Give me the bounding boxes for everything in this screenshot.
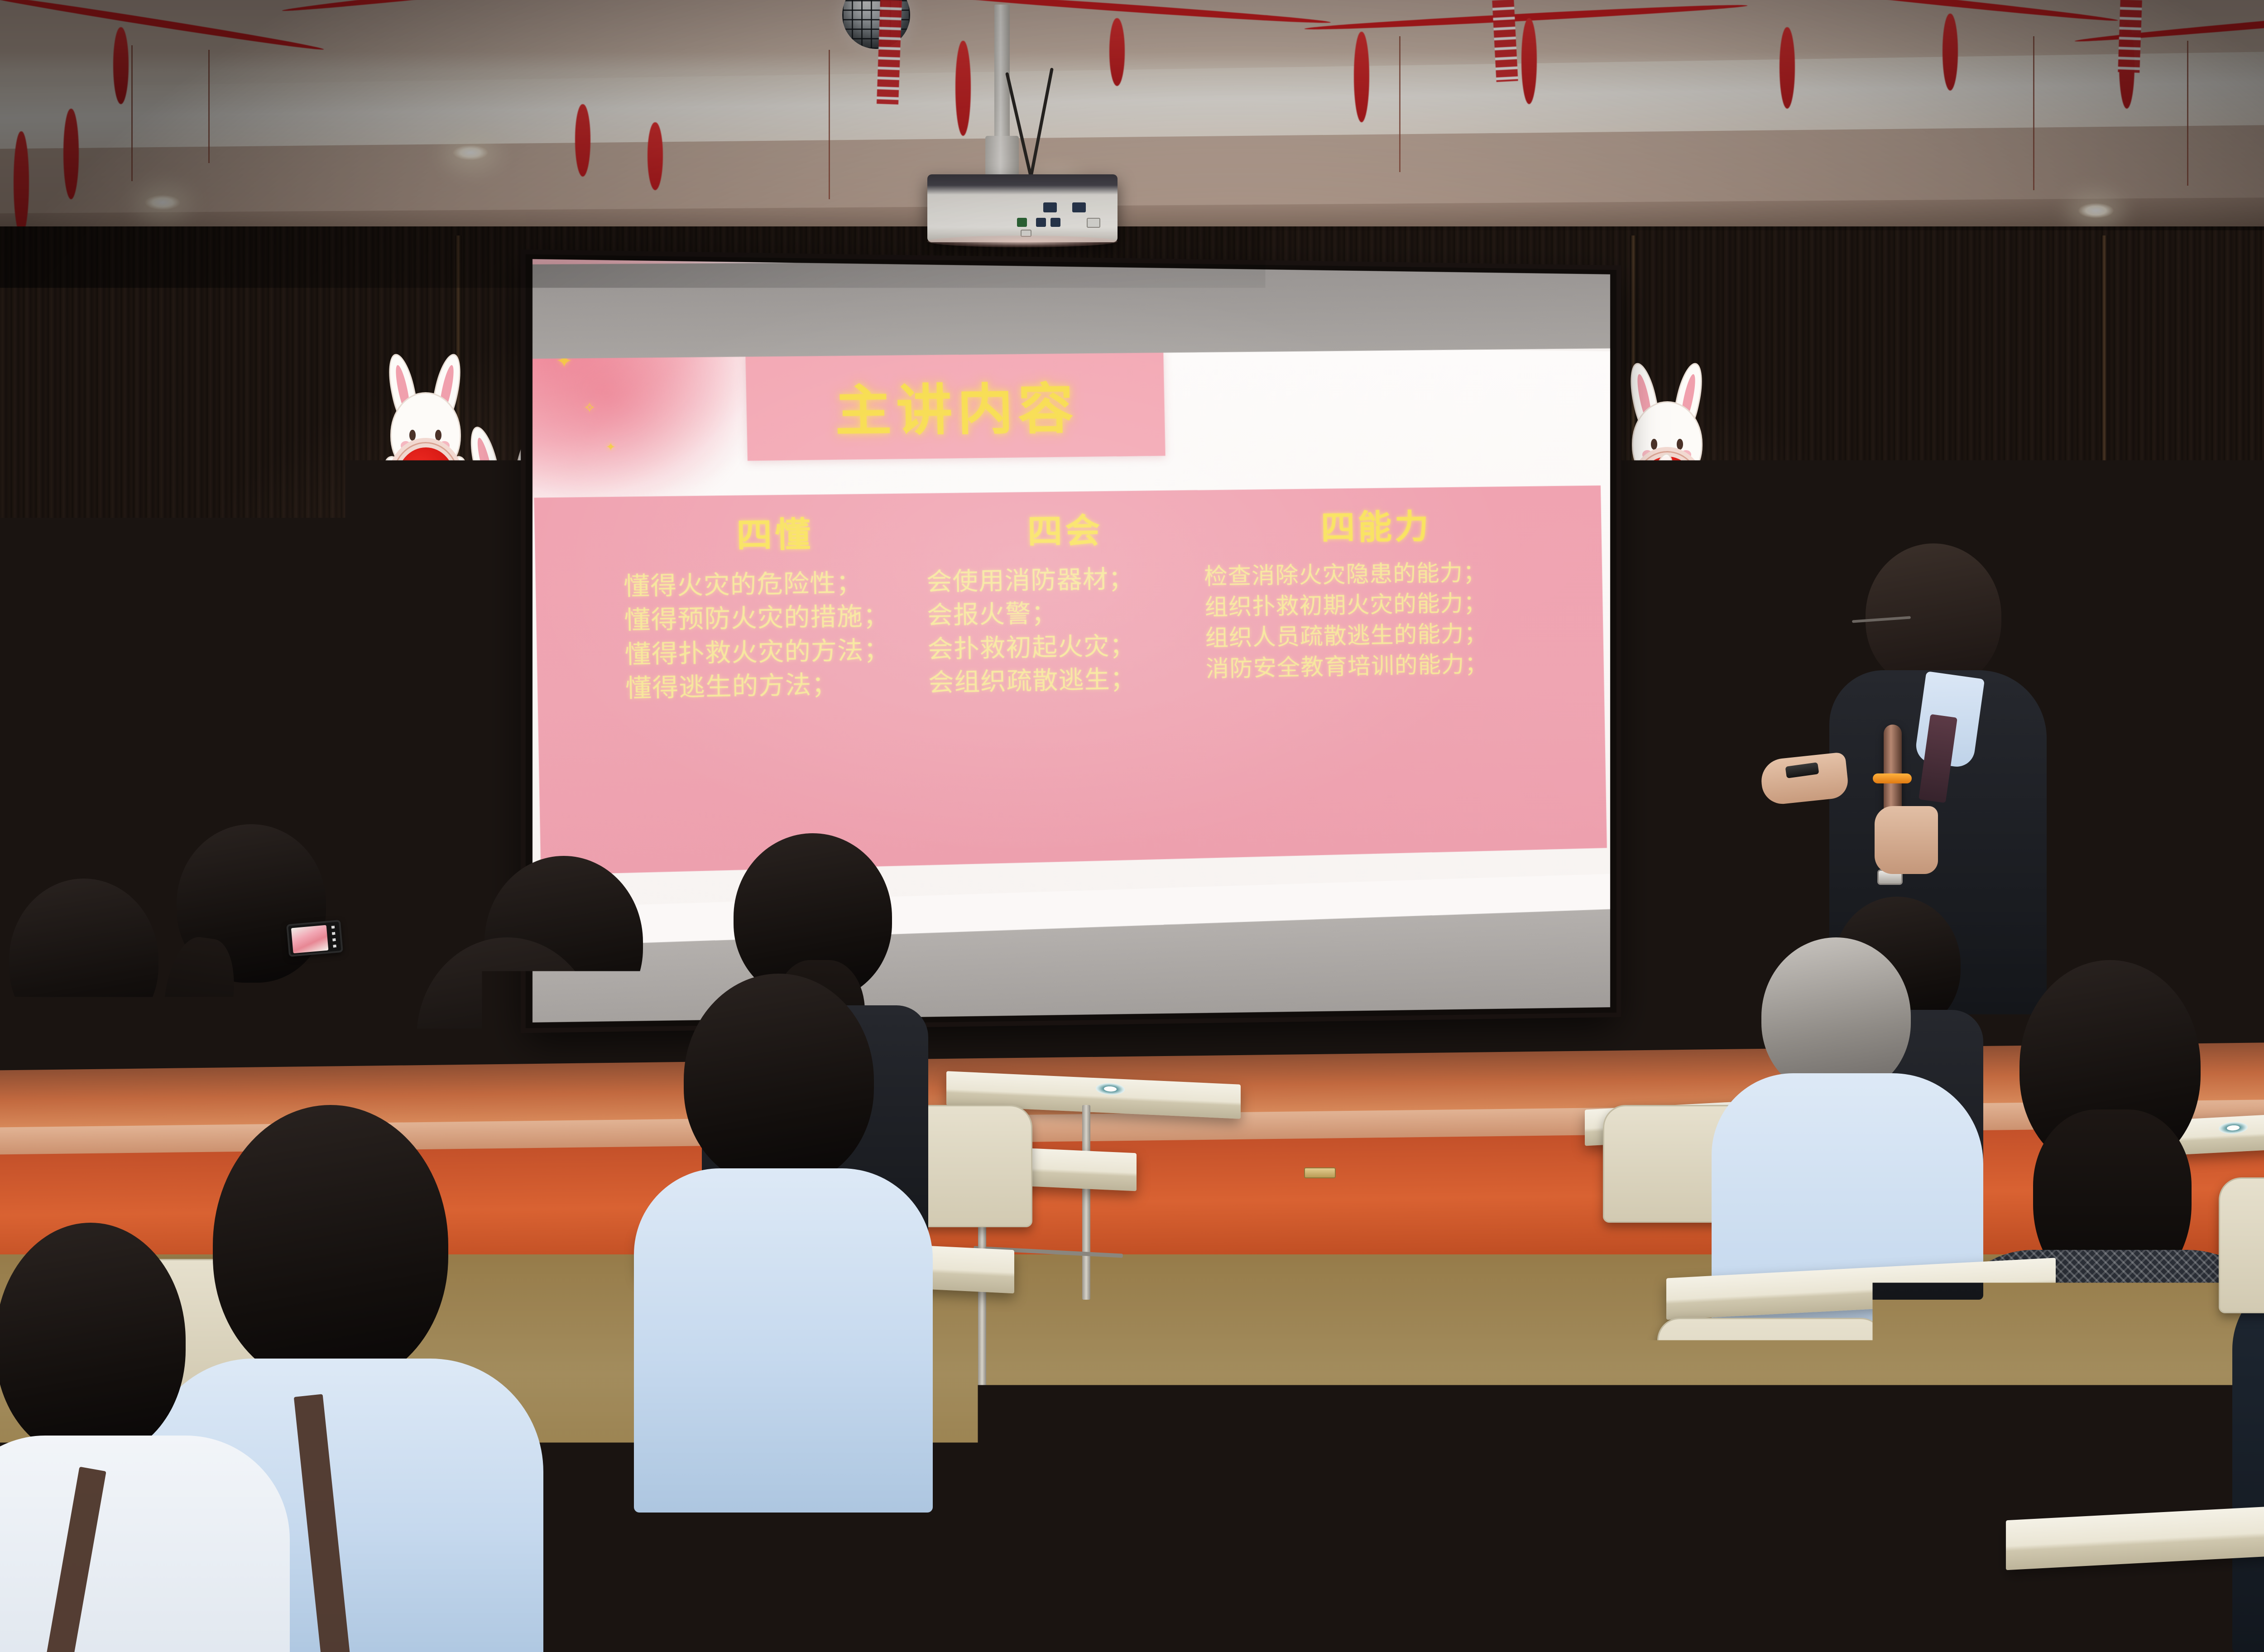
red-paper-chain [1492, 0, 1518, 82]
slide-letterbox-top [532, 259, 1610, 359]
attendee-head [1105, 1576, 1322, 1652]
streamer-thread [131, 45, 133, 181]
red-streamer-drop [648, 122, 663, 190]
wall-panel-seam [1630, 235, 1636, 1005]
slide-sparkle-icon: ✧ [583, 401, 595, 415]
red-paper-chain [877, 0, 902, 105]
slide-columns: 四懂 懂得火灾的危险性； 懂得预防火灾的措施； 懂得扑救火灾的方法； 懂得逃生的… [534, 497, 1604, 707]
column-heading: 四能力 [1203, 498, 1547, 552]
floor-outlet-cover [1304, 1167, 1336, 1178]
red-streamer-drop [1943, 14, 1958, 91]
slide-column-sihui: 四会 会使用消防器材； 会报火警； 会扑救初起火灾； 会组织疏散逃生； [925, 502, 1206, 700]
desk-leg [1082, 1105, 1090, 1300]
rabbit-eye-right [1677, 439, 1683, 450]
red-streamer-drop [1354, 32, 1369, 122]
ceiling-downlight [2078, 203, 2114, 218]
projector-video-port [1017, 218, 1027, 227]
slide-sparkle-icon: ✦ [606, 442, 616, 453]
red-streamer-drop [1780, 27, 1795, 109]
streamer-thread [1399, 36, 1401, 172]
rabbit-eye-left [409, 430, 416, 441]
rabbit-eye-right [435, 430, 441, 441]
lantern-face [397, 447, 455, 514]
rabbit-eye-right [1650, 525, 1656, 535]
attendee-head [593, 1214, 811, 1467]
attendee-jacket [521, 1449, 892, 1652]
attendee-head [0, 1223, 186, 1458]
lecture-hall-scene: ✦ ✧ ✦ 主讲内容 四懂 懂得火灾的危险性； 懂得预防火灾的措施； 懂得扑救火… [0, 0, 2264, 1652]
red-paper-chain [2118, 0, 2142, 73]
attendee-jacket [2232, 1273, 2264, 1652]
red-streamer-drop [1521, 18, 1537, 104]
lantern-tassel-tag [1784, 507, 1793, 537]
column-item: 懂得逃生的方法； [625, 666, 929, 706]
column-item: 会报火警； [927, 595, 1205, 633]
slide-content-box: 四懂 懂得火灾的危险性； 懂得预防火灾的措施； 懂得扑救火灾的方法； 懂得逃生的… [534, 485, 1607, 875]
slide-title-banner: 主讲内容 [745, 350, 1165, 461]
column-item: 会使用消防器材； [926, 562, 1204, 599]
column-item: 会扑救初起火灾； [927, 628, 1206, 667]
phone-screen-ui-dots [331, 926, 337, 949]
projector-vga-port [1043, 202, 1057, 212]
attendee-head [9, 879, 158, 1042]
phone-screen [291, 925, 329, 954]
column-item: 检查消除火灾隐患的能力； [1204, 557, 1548, 592]
slide-column-sidong: 四懂 懂得火灾的危险性； 懂得预防火灾的措施； 懂得扑救火灾的方法； 懂得逃生的… [622, 505, 928, 706]
column-item: 懂得预防火灾的措施； [624, 599, 927, 638]
red-streamer-drop [63, 109, 79, 199]
attendee-shirt [0, 1436, 290, 1652]
red-streamer-drop [575, 104, 590, 177]
desk-sticker [1096, 1082, 1125, 1095]
streamer-thread [2033, 36, 2034, 190]
projection-screen[interactable]: ✦ ✧ ✦ 主讲内容 四懂 懂得火灾的危险性； 懂得预防火灾的措施； 懂得扑救火… [526, 254, 1616, 1028]
column-heading: 四会 [925, 502, 1204, 555]
ceiling-downlight [145, 195, 180, 210]
projector-vga-port [1072, 202, 1086, 212]
column-item: 会组织疏散逃生； [928, 661, 1206, 700]
lantern-tassel-tag [503, 587, 512, 617]
auditorium-chair[interactable] [2219, 1177, 2264, 1313]
rabbit-eye-right [518, 502, 524, 513]
ceiling-projector [927, 174, 1118, 242]
lantern-tassel-tag [420, 514, 429, 544]
attendee-tweed-jacket [1947, 960, 2264, 1549]
lantern-face [1614, 542, 1669, 604]
rabbit-decoration [380, 353, 471, 516]
smartphone[interactable] [286, 920, 343, 957]
streamer-thread [2187, 41, 2188, 186]
column-item: 懂得火灾的危险性； [624, 565, 927, 604]
red-lantern-icon [388, 438, 464, 523]
red-streamer-drop [14, 131, 29, 235]
red-streamer-drop [955, 41, 971, 136]
attendee-head [1761, 937, 1911, 1096]
microphone-ring [1873, 773, 1912, 783]
column-item: 消防安全教育培训的能力； [1205, 648, 1549, 684]
streamer-thread [829, 50, 830, 199]
projector-audio-port [1036, 218, 1046, 227]
column-heading: 四懂 [622, 505, 926, 559]
slide-column-sinengli: 四能力 检查消除火灾隐患的能力； 组织扑救初期火灾的能力； 组织人员疏散逃生的能… [1203, 498, 1549, 695]
red-streamer-drop [113, 27, 129, 104]
projector-lens-glow [927, 235, 1118, 247]
column-item: 组织扑救初期火灾的能力； [1204, 587, 1549, 623]
presenter-head [1866, 543, 2001, 688]
ceiling-downlight [453, 145, 488, 160]
attendee-head [684, 974, 874, 1186]
rabbit-eye-left [1626, 525, 1632, 535]
streamer-thread [208, 50, 210, 163]
auditorium-chair[interactable] [1657, 1318, 1884, 1454]
attendee [0, 1223, 299, 1652]
handheld-microphone[interactable] [1884, 725, 1902, 815]
projector-lan-port [1087, 218, 1100, 228]
wall-panel-seam [2101, 235, 2107, 1005]
column-item: 懂得扑救火灾的方法； [624, 633, 928, 672]
attendee [534, 1214, 878, 1652]
slide-title: 主讲内容 [834, 364, 1079, 446]
presentation-slide: ✦ ✧ ✦ 主讲内容 四懂 懂得火灾的危险性； 懂得预防火灾的措施； 懂得扑救火… [532, 259, 1610, 1023]
red-streamer-drop [1109, 18, 1125, 86]
attendee [1078, 1576, 1367, 1652]
rabbit-eye-left [1651, 439, 1657, 450]
presenter-hand-right [1875, 806, 1938, 874]
rabbit-eye-left [492, 502, 498, 513]
projector-audio-port [1050, 218, 1060, 227]
